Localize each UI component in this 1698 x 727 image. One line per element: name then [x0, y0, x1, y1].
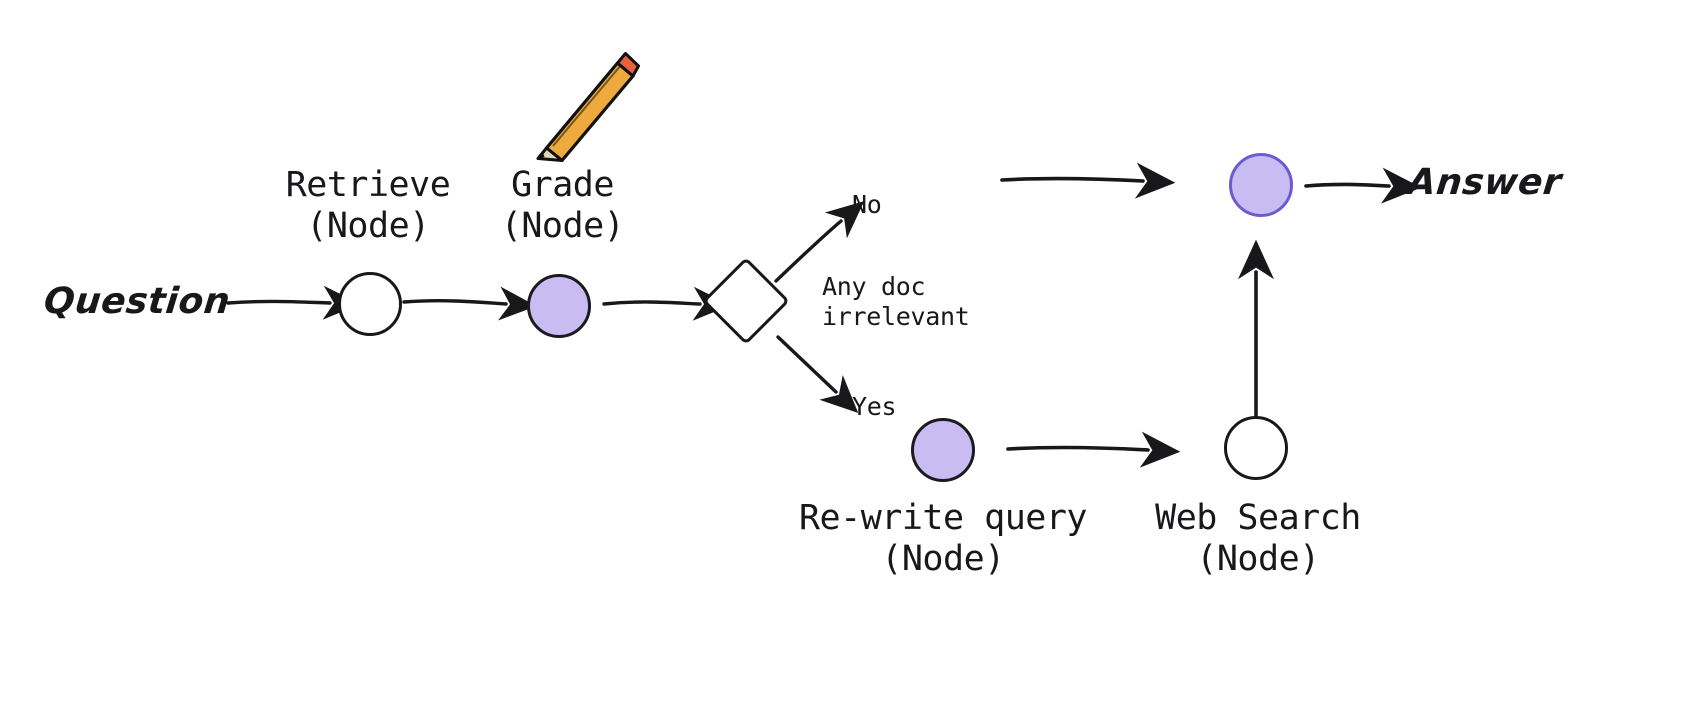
question-label: Question — [42, 281, 232, 323]
answer-label: Answer — [1406, 162, 1564, 204]
node-web-search[interactable] — [1224, 416, 1288, 480]
node-rewrite-query-label: Re-write query (Node) — [793, 498, 1093, 581]
edge-generate-to-answer — [1306, 184, 1389, 186]
node-generate[interactable] — [1229, 153, 1293, 217]
edge-label-condition: Any doc irrelevant — [822, 272, 970, 331]
edge-decision-yes — [778, 337, 836, 392]
node-retrieve-label: Retrieve (Node) — [258, 165, 478, 248]
node-web-search-label: Web Search (Node) — [1138, 498, 1378, 581]
pencil-icon — [524, 52, 640, 162]
node-grade-label: Grade (Node) — [455, 165, 670, 248]
node-decision-diamond[interactable] — [702, 257, 790, 345]
node-retrieve[interactable] — [338, 272, 402, 336]
node-grade[interactable] — [527, 274, 591, 338]
edge-question-to-retrieve — [228, 301, 330, 303]
edge-label-no: No — [852, 190, 882, 220]
edge-rewrite-to-websearch — [1008, 447, 1148, 450]
edge-grade-to-decision — [604, 302, 700, 304]
node-rewrite-query[interactable] — [911, 418, 975, 482]
diagram-canvas: Question Retrieve (Node) Grade (Node) No… — [0, 0, 1698, 727]
edge-layer — [0, 0, 1698, 727]
edge-no-to-generate — [1002, 178, 1143, 181]
edge-retrieve-to-grade — [404, 301, 506, 304]
edge-label-yes: Yes — [852, 392, 896, 422]
